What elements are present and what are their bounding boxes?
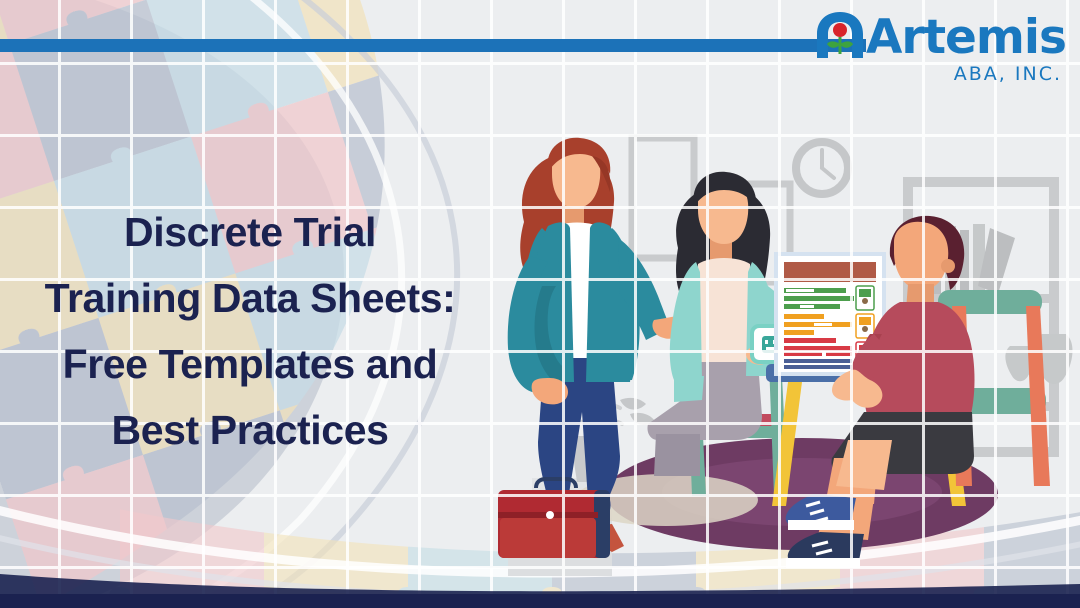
headline-line-4: Best Practices xyxy=(0,397,500,463)
blog-banner: Artemis ABA, INC. Discrete Trial Trainin… xyxy=(0,0,1080,608)
wall-clock-icon xyxy=(796,142,848,194)
headline-line-2: Training Data Sheets: xyxy=(0,265,500,331)
aba-session-illustration xyxy=(470,96,1080,596)
page-title: Discrete Trial Training Data Sheets: Fre… xyxy=(0,199,500,463)
logo-subtitle: ABA, INC. xyxy=(954,63,1062,85)
headline-line-1: Discrete Trial xyxy=(0,199,500,265)
top-blue-rule xyxy=(0,39,866,52)
headline-line-3: Free Templates and xyxy=(0,331,500,397)
artemis-logo[interactable]: Artemis ABA, INC. xyxy=(811,8,1066,85)
artemis-arch-flower-icon xyxy=(811,8,869,60)
logo-wordmark: Artemis xyxy=(866,16,1066,60)
bottom-navy-bar xyxy=(0,594,1080,608)
